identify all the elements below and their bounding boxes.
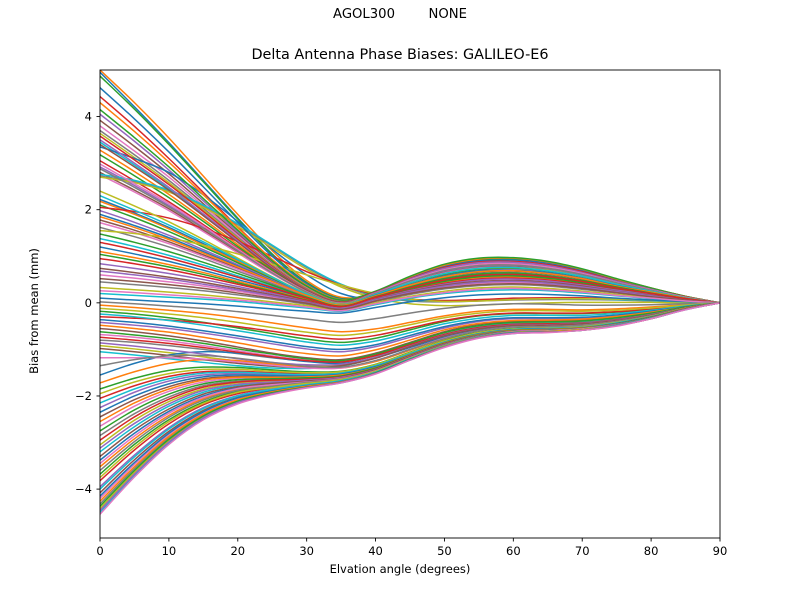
line-chart-plot: 0102030405060708090−4−2024: [0, 0, 800, 600]
x-tick-label: 80: [644, 544, 659, 558]
y-tick-label: 4: [85, 110, 92, 124]
x-tick-label: 0: [96, 544, 103, 558]
x-tick-label: 30: [299, 544, 314, 558]
series-line: [100, 303, 720, 509]
y-tick-label: −4: [75, 482, 92, 496]
y-tick-label: −2: [75, 389, 92, 403]
x-tick-label: 50: [437, 544, 452, 558]
matplotlib-figure: AGOL300 NONE Delta Antenna Phase Biases:…: [0, 0, 800, 600]
x-tick-label: 10: [162, 544, 177, 558]
series-lines-group: [100, 70, 720, 514]
x-tick-label: 40: [368, 544, 383, 558]
x-tick-label: 90: [713, 544, 728, 558]
y-tick-label: 0: [85, 296, 92, 310]
x-tick-label: 70: [575, 544, 590, 558]
series-line: [100, 303, 720, 464]
y-tick-label: 2: [85, 203, 92, 217]
x-tick-label: 20: [230, 544, 245, 558]
x-tick-label: 60: [506, 544, 521, 558]
series-line: [100, 303, 720, 457]
